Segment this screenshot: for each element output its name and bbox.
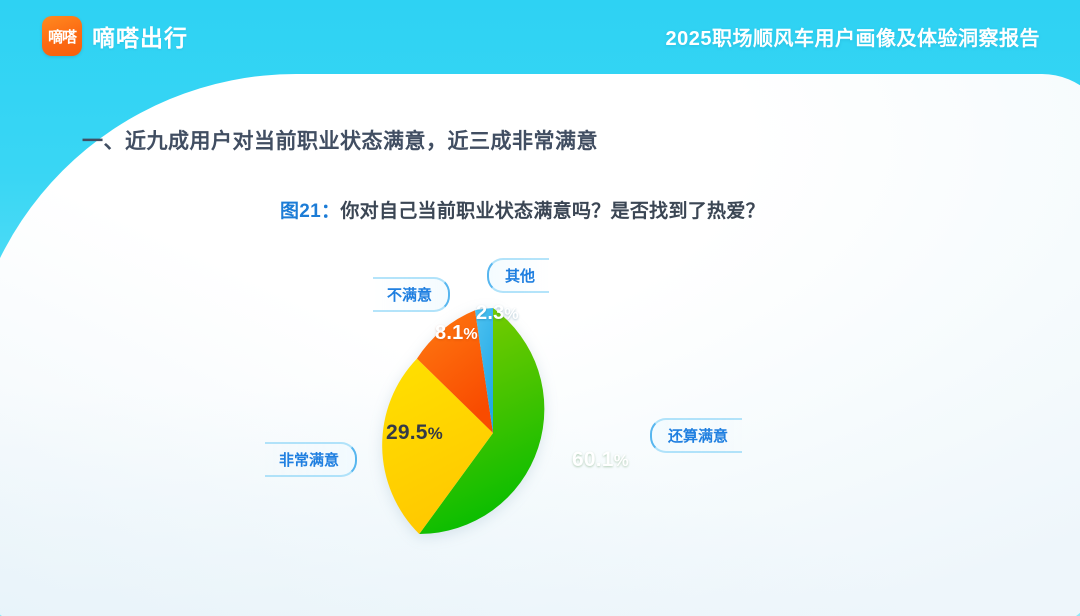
value-label-other: 2.3% [476, 302, 519, 325]
page-header: 嘀嗒 嘀嗒出行 2025职场顺风车用户画像及体验洞察报告 [0, 0, 1080, 72]
callout-dissatisfied: 不满意 [373, 277, 450, 312]
brand-name: 嘀嗒出行 [92, 19, 188, 53]
value-label-dissatisfied: 8.1% [435, 322, 478, 345]
section-heading: 一、近九成用户对当前职业状态满意，近三成非常满意 [82, 125, 598, 155]
value-label-very-satisfied: 29.5% [386, 421, 443, 445]
callout-fairly-satisfied: 还算满意 [650, 418, 742, 453]
slide-canvas: 嘀嗒 嘀嗒出行 2025职场顺风车用户画像及体验洞察报告 一、近九成用户对当前职… [0, 0, 1080, 616]
chart-title-text: 你对自己当前职业状态满意吗？是否找到了热爱？ [340, 201, 765, 222]
logo-icon: 嘀嗒 [42, 16, 82, 56]
callout-very-satisfied: 非常满意 [265, 442, 357, 477]
report-title: 2025职场顺风车用户画像及体验洞察报告 [666, 22, 1041, 51]
brand-logo[interactable]: 嘀嗒 嘀嗒出行 [42, 16, 188, 56]
chart-title: 图21：你对自己当前职业状态满意吗？是否找到了热爱？ [280, 196, 765, 223]
callout-other: 其他 [487, 258, 549, 293]
figure-label: 图21： [280, 201, 340, 222]
value-label-fairly-satisfied: 60.1% [572, 448, 629, 472]
